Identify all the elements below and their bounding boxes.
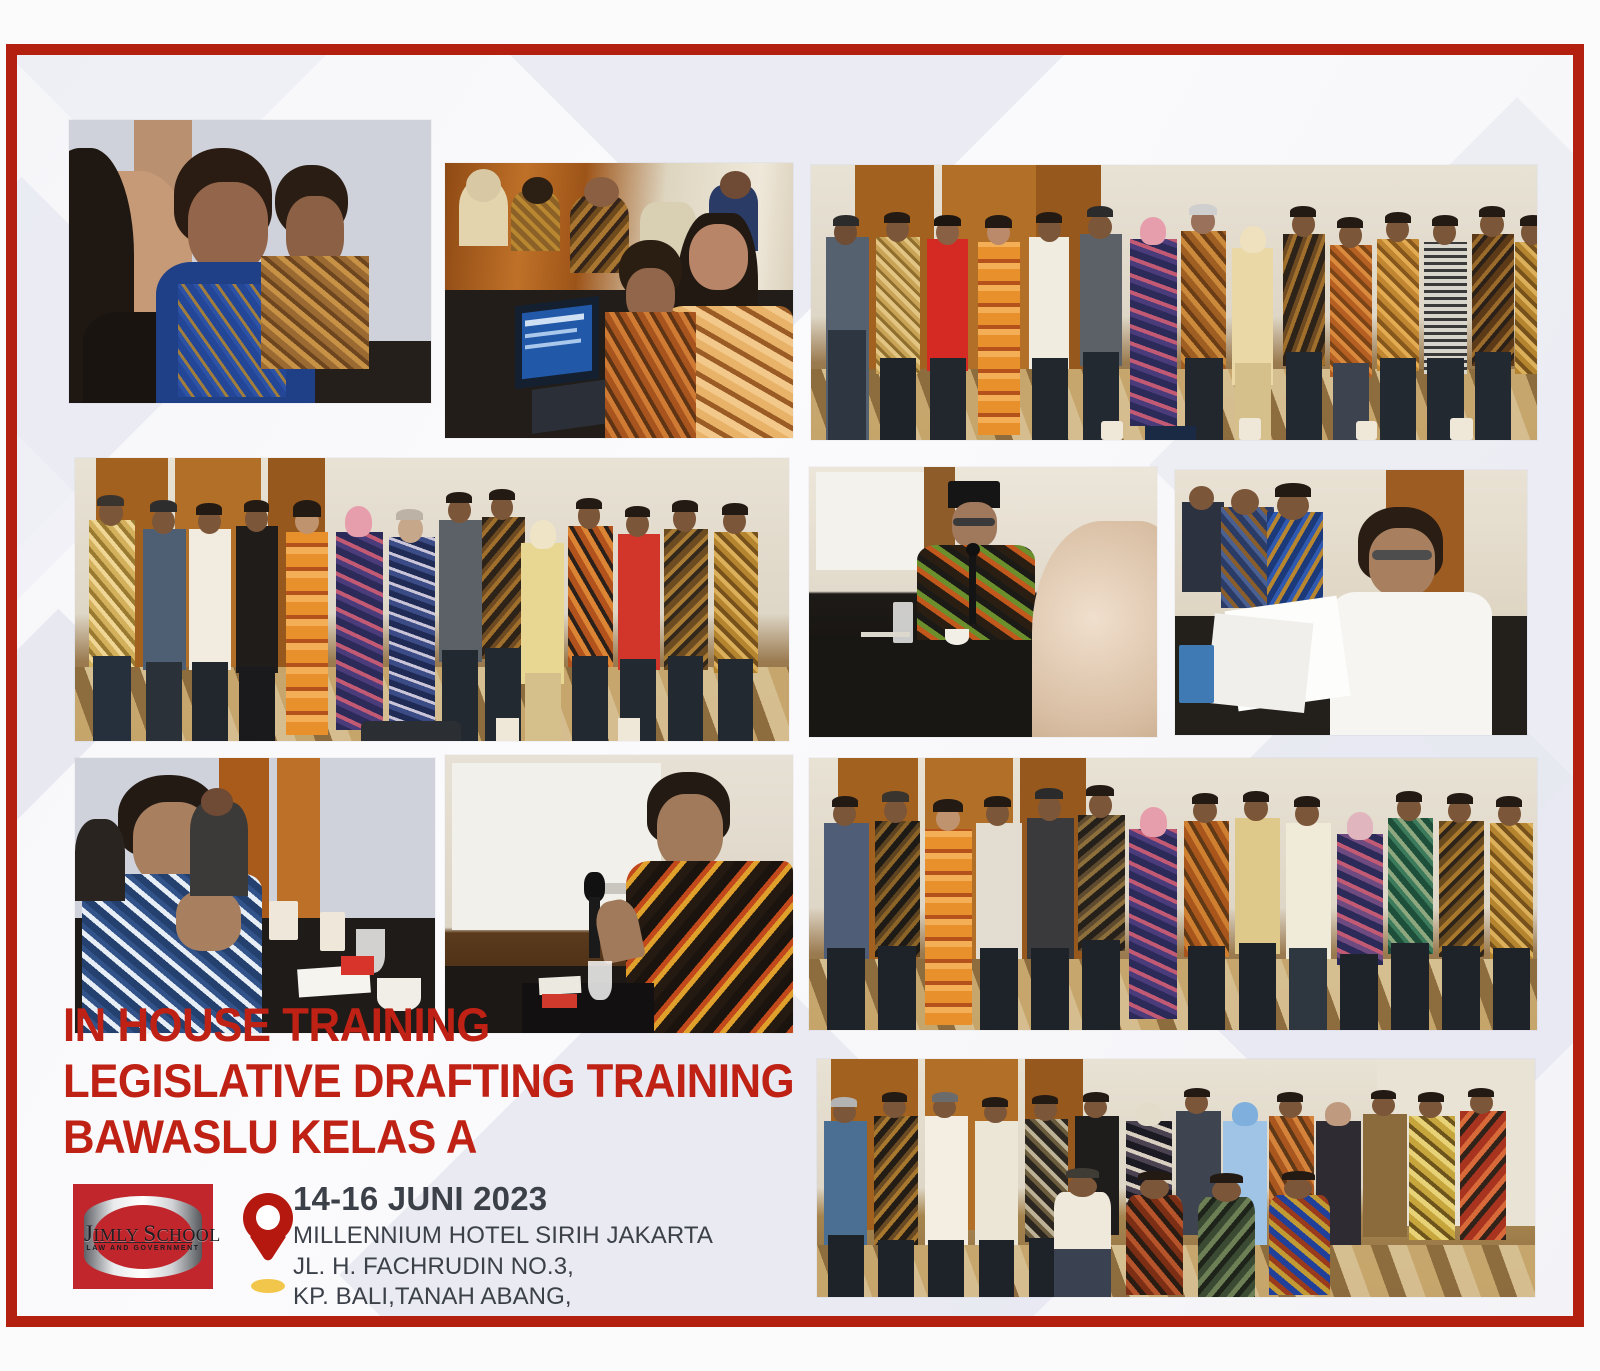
event-address-line-1: JL. H. FACHRUDIN NO.3, <box>293 1252 933 1282</box>
logo-lens-mark: JIMLY SCHOOL LAW AND GOVERNMENT <box>84 1196 202 1278</box>
logo-brand-j: J <box>84 1221 93 1246</box>
headline-line-1: IN HOUSE TRAINING <box>63 1000 770 1050</box>
logo-tagline: LAW AND GOVERNMENT <box>84 1245 202 1252</box>
logo-divider <box>94 1242 192 1243</box>
event-details: 14-16 JUNI 2023 MILLENNIUM HOTEL SIRIH J… <box>293 1181 933 1316</box>
map-pin-icon <box>239 1193 297 1297</box>
gallery-photo-p9 <box>809 758 1537 1030</box>
gallery-photo-p4 <box>75 458 789 741</box>
gallery-photo-p3 <box>811 165 1537 440</box>
event-date: 14-16 JUNI 2023 <box>293 1181 933 1217</box>
map-pin-shadow <box>251 1279 285 1293</box>
jimly-school-logo: JIMLY SCHOOL LAW AND GOVERNMENT <box>73 1184 213 1289</box>
headline-block: IN HOUSE TRAINING LEGISLATIVE DRAFTING T… <box>63 1000 823 1167</box>
headline-line-3: BAWASLU KELAS A <box>63 1112 770 1162</box>
gallery-photo-p5 <box>809 467 1157 737</box>
headline-line-2: LEGISLATIVE DRAFTING TRAINING <box>63 1056 770 1106</box>
gallery-photo-p6 <box>1175 470 1527 735</box>
gallery-photo-p1 <box>69 120 431 403</box>
map-pin-hole <box>256 1205 280 1230</box>
poster-frame: IN HOUSE TRAINING LEGISLATIVE DRAFTING T… <box>6 44 1584 1327</box>
gallery-photo-p8 <box>445 755 793 1033</box>
event-address-line-3: KOTA JAKARTA PUSAT, <box>293 1312 933 1316</box>
poster-canvas: IN HOUSE TRAINING LEGISLATIVE DRAFTING T… <box>17 55 1573 1316</box>
event-venue: MILLENNIUM HOTEL SIRIH JAKARTA <box>293 1221 933 1251</box>
event-address-line-2: KP. BALI,TANAH ABANG, <box>293 1282 933 1312</box>
gallery-photo-p2 <box>445 163 793 438</box>
gallery-photo-p7 <box>75 758 435 1033</box>
